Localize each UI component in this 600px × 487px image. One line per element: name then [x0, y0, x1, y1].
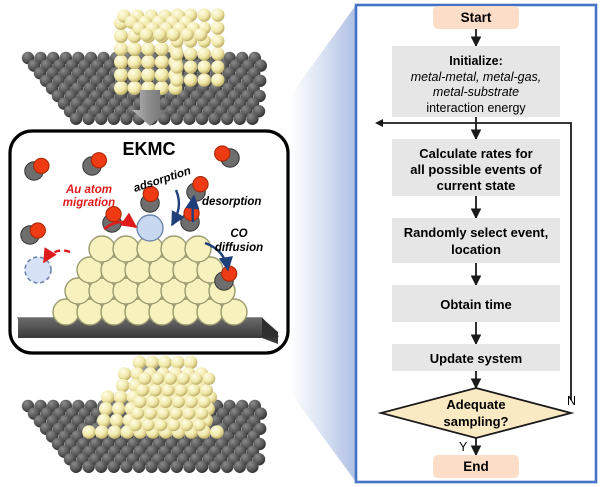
flow-node-decision-line2: sampling? — [443, 414, 508, 429]
au-atom — [168, 419, 181, 432]
label-desorption: desorption — [202, 196, 261, 208]
au-atom — [160, 396, 173, 409]
au-atom — [128, 81, 142, 95]
au-atom — [89, 236, 115, 262]
flow-node-initialize-line4: interaction energy — [426, 101, 526, 115]
au-atom — [152, 372, 165, 385]
au-atom — [128, 42, 142, 56]
au-atom — [193, 419, 206, 432]
au-atom — [134, 396, 147, 409]
au-atom — [172, 396, 185, 409]
substrate-atom — [183, 113, 195, 125]
au-atom — [129, 419, 142, 432]
au-atom — [136, 384, 149, 397]
flow-node-obtain-time-label: Obtain time — [440, 297, 512, 312]
au-atom — [144, 407, 157, 420]
au-atom — [175, 384, 188, 397]
au-atom — [183, 407, 196, 420]
substrate-atom — [221, 113, 233, 125]
substrate-atom — [108, 461, 120, 473]
au-atom — [141, 55, 155, 69]
au-atom — [167, 28, 180, 41]
flow-node-calculate-line2: all possible events of — [410, 162, 542, 177]
au-atom — [157, 407, 170, 420]
au-atom — [198, 47, 211, 60]
au-atom — [149, 384, 162, 397]
migrating-au-atom — [137, 215, 163, 241]
au-atom — [155, 419, 168, 432]
au-atom — [110, 414, 124, 428]
au-atom — [108, 425, 122, 439]
substrate-atom — [196, 461, 208, 473]
substrate-atom — [196, 113, 208, 125]
flow-node-end[interactable]: End — [433, 455, 519, 478]
au-atom — [112, 402, 126, 416]
ekmc-panel: EKMC Au atom migration adsorption d — [10, 131, 288, 353]
au-atom — [211, 34, 224, 47]
au-atom — [211, 21, 224, 34]
au-atom — [155, 55, 169, 69]
au-atom — [184, 356, 198, 370]
au-atom — [113, 236, 139, 262]
au-atom — [194, 28, 207, 41]
au-atom — [210, 425, 224, 439]
au-atom — [153, 28, 166, 41]
au-atom — [185, 396, 198, 409]
au-atom — [170, 407, 183, 420]
flow-node-calculate-line3: current state — [437, 178, 516, 193]
substrate-atom — [246, 113, 258, 125]
au-atom — [198, 8, 211, 21]
au-atom — [211, 60, 224, 73]
substrate-atom — [183, 461, 195, 473]
au-atom — [114, 55, 128, 69]
substrate-atom — [234, 113, 246, 125]
au-atom — [147, 396, 160, 409]
au-atom — [158, 356, 172, 370]
flow-node-update-system[interactable]: Update system — [392, 344, 560, 371]
co-gas-5-oxygen — [193, 177, 208, 192]
au-atom — [82, 425, 96, 439]
au-atom — [200, 384, 213, 397]
au-atom — [118, 367, 132, 381]
edge-label-yes: Y — [459, 440, 468, 454]
au-atom — [211, 8, 224, 21]
label-co-diffusion-line2: diffusion — [215, 242, 263, 254]
flow-node-update-system-label: Update system — [430, 351, 522, 366]
au-atom — [198, 396, 211, 409]
flow-node-select-line2: location — [451, 242, 501, 257]
substrate-atom — [133, 461, 145, 473]
label-au-migration-line2: migration — [63, 197, 115, 209]
au-atom — [133, 356, 147, 370]
au-atom — [141, 42, 155, 56]
co-gas-3-oxygen — [215, 146, 230, 161]
substrate-atom — [171, 113, 183, 125]
au-atom — [198, 73, 211, 86]
au-atom — [177, 372, 190, 385]
au-atom — [114, 42, 128, 56]
ekmc-title: EKMC — [123, 139, 176, 159]
substrate-atom — [95, 113, 107, 125]
substrate-atom — [82, 113, 94, 125]
substrate-atom — [208, 113, 220, 125]
substrate-atom — [95, 461, 107, 473]
substrate-atom — [70, 461, 82, 473]
flow-node-initialize[interactable]: Initialize: metal-metal, metal-gas, meta… — [392, 46, 560, 117]
au-atom — [164, 372, 177, 385]
substrate-atom — [82, 461, 94, 473]
flow-node-initialize-line2: metal-metal, metal-gas, — [411, 70, 542, 84]
au-atom — [184, 47, 197, 60]
au-atom — [161, 236, 187, 262]
au-atom — [99, 402, 113, 416]
flow-node-end-label: End — [463, 459, 489, 474]
au-atom — [140, 28, 153, 41]
edge-label-no: N — [567, 394, 576, 408]
substrate-atom — [120, 113, 132, 125]
au-atom — [101, 390, 115, 404]
au-atom — [190, 372, 203, 385]
au-atom — [155, 42, 169, 56]
flow-node-initialize-line3: metal-substrate — [433, 85, 519, 99]
co-gas-4-oxygen — [30, 223, 45, 238]
au-atom — [141, 68, 155, 82]
au-atom — [162, 384, 175, 397]
au-atom — [170, 60, 183, 73]
flow-node-start[interactable]: Start — [433, 6, 519, 29]
au-atom — [139, 372, 152, 385]
au-atom — [198, 60, 211, 73]
au-atom — [170, 73, 183, 86]
au-atom — [170, 47, 183, 60]
au-atom — [155, 68, 169, 82]
substrate-atom — [70, 113, 82, 125]
co-gas-2-oxygen — [91, 153, 106, 168]
desorption-arrow — [193, 196, 194, 222]
flow-node-calculate[interactable]: Calculate rates for all possible events … — [392, 139, 560, 196]
au-atom — [211, 73, 224, 86]
flow-node-initialize-line1: Initialize: — [449, 54, 502, 68]
label-co-diffusion-line1: CO — [230, 228, 247, 240]
flow-node-select-line1: Randomly select event, — [404, 225, 549, 240]
au-atom — [132, 407, 145, 420]
flow-node-obtain-time[interactable]: Obtain time — [392, 285, 560, 322]
substrate-atom — [120, 461, 132, 473]
flow-node-calculate-line1: Calculate rates for — [419, 146, 532, 161]
co-gas-1-oxygen — [34, 158, 49, 173]
au-atom — [114, 390, 128, 404]
au-atom — [114, 81, 128, 95]
substrate-atom — [158, 461, 170, 473]
substrate-atom — [108, 113, 120, 125]
au-atom — [128, 68, 142, 82]
au-atom — [97, 414, 111, 428]
flow-node-select[interactable]: Randomly select event, location — [392, 218, 560, 263]
au-vacancy-site — [25, 257, 51, 283]
au-atom — [171, 356, 185, 370]
au-atom — [142, 419, 155, 432]
substrate-atom — [234, 461, 246, 473]
substrate-atom — [145, 461, 157, 473]
au-atom — [145, 356, 159, 370]
au-atom — [180, 419, 193, 432]
substrate-atom — [221, 461, 233, 473]
au-atom — [114, 29, 128, 43]
au-atom — [188, 384, 201, 397]
au-atom — [95, 425, 109, 439]
co-adsorbed-4-oxygen — [222, 266, 237, 281]
substrate-atom — [246, 461, 258, 473]
flow-node-start-label: Start — [461, 10, 492, 25]
au-atom — [114, 68, 128, 82]
au-atom — [203, 372, 216, 385]
label-au-migration-line1: Au atom — [65, 184, 112, 196]
au-atom — [184, 73, 197, 86]
au-atom — [128, 55, 142, 69]
au-atom — [184, 60, 197, 73]
flow-node-decision-line1: Adequate — [446, 397, 505, 412]
au-atom — [185, 236, 211, 262]
au-atom — [196, 407, 209, 420]
figure-root: EKMC Au atom migration adsorption d — [0, 0, 600, 487]
au-atom — [180, 28, 193, 41]
substrate-atom — [208, 461, 220, 473]
au-atom — [116, 379, 130, 393]
au-atom — [211, 47, 224, 60]
substrate-atom — [171, 461, 183, 473]
